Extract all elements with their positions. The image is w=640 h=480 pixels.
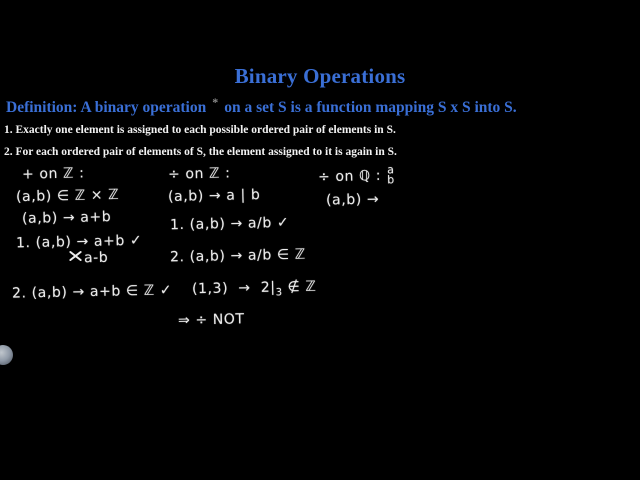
ink-col1-crossed-out: a-b [84,250,109,267]
ink-col2-line-1: (a,b) → a | b [168,187,261,205]
slide-canvas: Binary Operations Definition: A binary o… [0,0,640,480]
ink-col2-example-result: 2| [261,280,276,296]
page-title: Binary Operations [0,64,640,89]
ink-col3-heading: ÷ on ℚ : a b [318,165,396,187]
asterisk-symbol: * [206,95,224,109]
ink-col2-example-pair: (1,3) [192,281,229,298]
ink-col1-line-2: (a,b) → a+b [22,209,112,227]
ink-col3-heading-text: ÷ on ℚ : [318,168,381,185]
ink-col2-line-3: 2. (a,b) → a/b ∈ ℤ [170,247,306,266]
ink-col2-conclusion: ⇒ ÷ NOT [178,311,245,328]
ink-col1-line-3: 1. (a,b) → a+b ✓ [16,233,143,252]
ink-col3-fraction: a b [387,165,395,186]
ink-col2-example-arrow: → [233,280,256,296]
ink-col2-heading: ÷ on ℤ : [168,165,231,182]
ink-col2-example: (1,3) → 2|3 ∉ ℤ [192,279,317,300]
ink-col3-fraction-denominator: b [387,176,395,187]
definition-suffix: on a set S is a function mapping S x S i… [224,99,516,116]
definition-prefix: Definition: A binary operation [6,99,206,116]
ink-col3-fraction-numerator: a [387,165,395,176]
definition-condition-1: 1. Exactly one element is assigned to ea… [4,124,396,136]
pen-cursor-icon [0,345,13,365]
ink-col2-example-denominator: 3 [276,287,283,298]
ink-col1-line-1: (a,b) ∈ ℤ × ℤ [16,187,120,205]
ink-col3-line-1: (a,b) → [326,191,380,208]
ink-col2-line-2: 1. (a,b) → a/b ✓ [170,215,290,233]
definition-condition-2: 2. For each ordered pair of elements of … [4,146,397,158]
ink-col2-example-notin: ∉ ℤ [287,279,316,296]
ink-col1-line-4: 2. (a,b) → a+b ∈ ℤ ✓ [12,282,172,301]
ink-col1-heading: + on ℤ : [22,165,85,182]
definition-statement: Definition: A binary operation*on a set … [6,95,634,117]
cross-out-mark [68,248,83,263]
